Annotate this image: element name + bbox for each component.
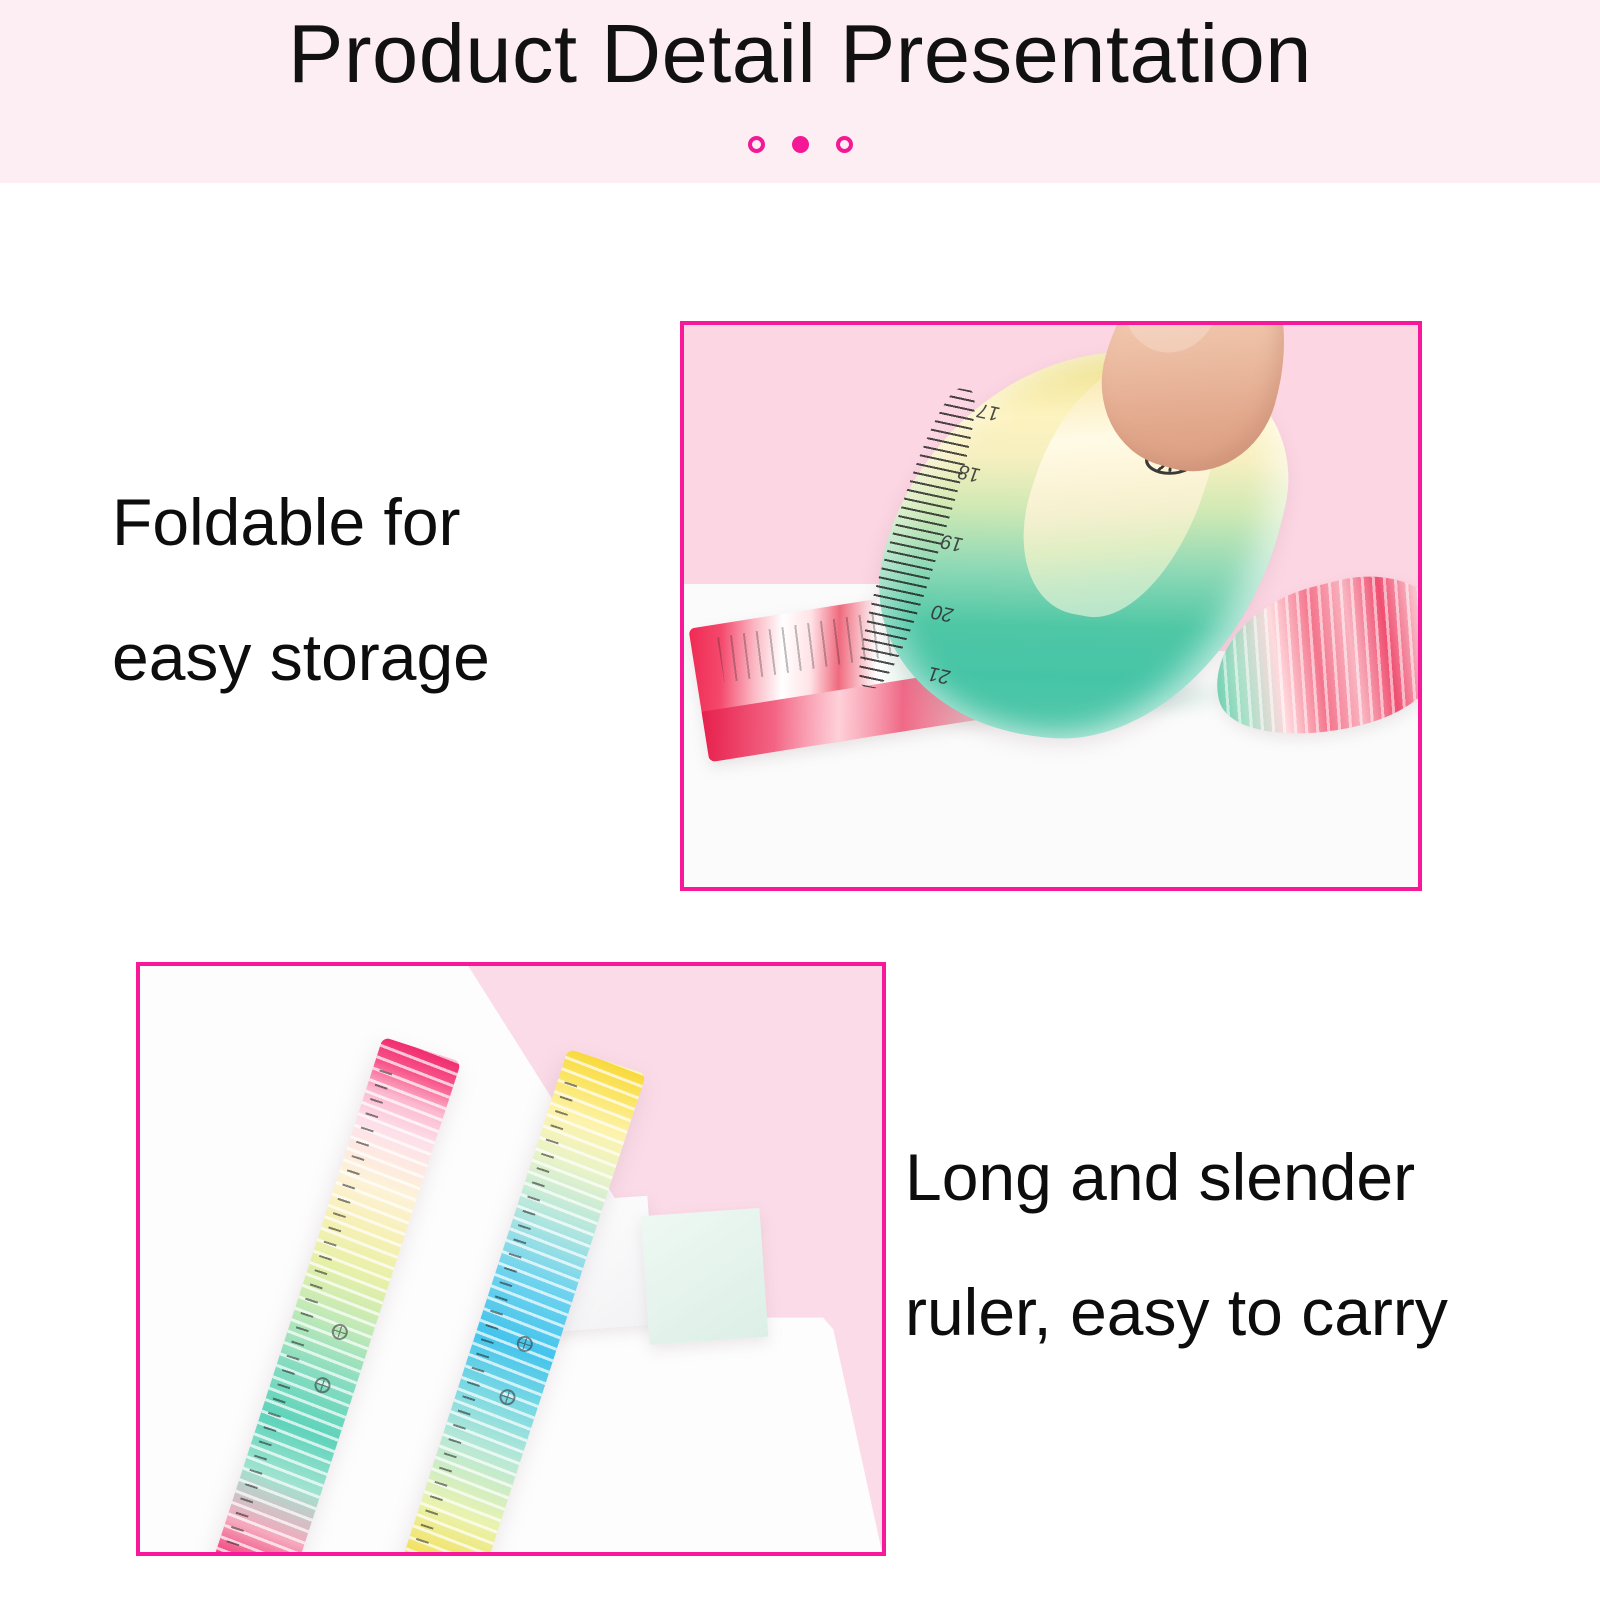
prop-block-mint — [640, 1208, 767, 1345]
product-detail-page: Product Detail Presentation Foldable for… — [0, 0, 1600, 1600]
ruler-scale-number-21: 21 — [924, 662, 953, 689]
carousel-dot-2[interactable] — [792, 136, 809, 153]
carousel-dot-3[interactable] — [836, 136, 853, 153]
carousel-dots[interactable] — [0, 136, 1600, 153]
photo-frame-folded-ruler: 17 18 19 20 21 — [680, 321, 1422, 891]
feature-caption-slender: Long and slender ruler, easy to carry — [905, 1110, 1595, 1380]
ruler-scale-number-20: 20 — [928, 599, 957, 626]
carousel-dot-1[interactable] — [748, 136, 765, 153]
page-title: Product Detail Presentation — [0, 12, 1600, 95]
page-header: Product Detail Presentation — [0, 0, 1600, 183]
feature-caption-foldable: Foldable for easy storage — [112, 455, 672, 725]
photo-frame-two-rulers — [136, 962, 886, 1556]
photo-two-rulers — [140, 966, 882, 1552]
photo-folded-ruler: 17 18 19 20 21 — [684, 325, 1418, 887]
